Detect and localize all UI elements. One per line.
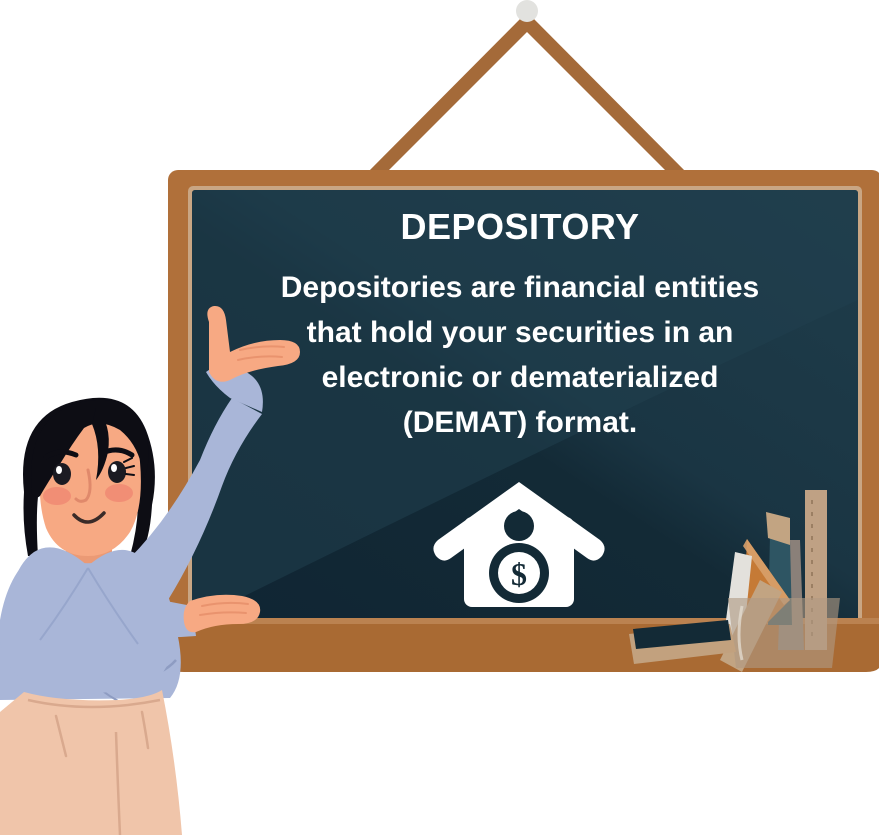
eye-right-glint — [111, 464, 117, 472]
icon-attic-dot — [504, 511, 534, 541]
rope-left — [362, 12, 533, 178]
board-hanger — [362, 0, 692, 178]
eye-left — [53, 463, 71, 485]
blush-right — [105, 484, 133, 502]
eye-right — [108, 461, 126, 483]
rope-right — [521, 12, 692, 178]
icon-dollar-glyph: $ — [511, 556, 527, 592]
eye-left-glint — [56, 466, 62, 474]
skirt — [0, 690, 182, 835]
hanger-nail-icon — [516, 0, 538, 22]
blush-left — [43, 487, 71, 505]
illustration-canvas: $ — [0, 0, 879, 835]
scene-graphics: $ — [0, 0, 879, 835]
stationery-holder — [728, 598, 840, 668]
